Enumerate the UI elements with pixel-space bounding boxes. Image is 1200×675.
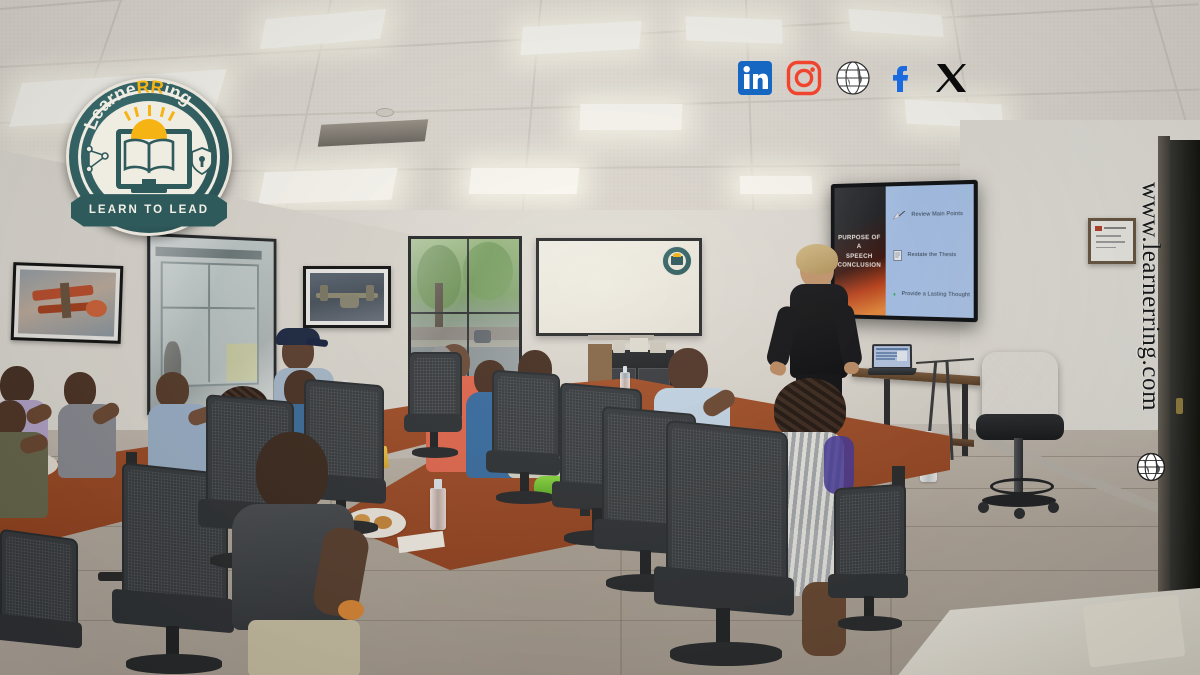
osprey-photo <box>303 266 391 328</box>
tablecloth-fold <box>1083 594 1186 667</box>
website-watermark: www.learnerring.com <box>1136 182 1164 411</box>
task-chair[interactable] <box>0 534 90 664</box>
student-head <box>256 432 328 512</box>
brand-part-2: RR <box>136 76 165 97</box>
task-chair[interactable] <box>828 486 914 636</box>
logo-tagline-ribbon: LEARN TO LEAD <box>71 192 227 228</box>
framed-certificate <box>1088 218 1136 264</box>
instagram-icon[interactable] <box>784 58 824 98</box>
laptop[interactable] <box>868 344 914 376</box>
whiteboard <box>536 238 702 336</box>
social-icon-row <box>735 58 971 98</box>
globe-icon <box>1136 452 1166 482</box>
task-chair[interactable] <box>404 352 466 462</box>
globe-icon[interactable] <box>833 58 873 98</box>
node-network-icon <box>85 145 109 175</box>
whiteboard-logo-icon <box>662 246 692 276</box>
water-bottle <box>430 488 446 530</box>
event-photo: PURPOSE OF A SPEECH CONCLUSION Review Ma… <box>0 0 1200 675</box>
open-book-icon <box>122 137 176 175</box>
ceiling-light-panel <box>580 104 683 130</box>
facebook-icon[interactable] <box>882 58 922 98</box>
snack <box>338 600 364 620</box>
student <box>0 400 64 520</box>
student <box>58 372 124 478</box>
task-chair[interactable] <box>652 426 800 674</box>
smoke-detector-icon <box>376 108 394 117</box>
learnerring-logo: LearneRRing <box>66 78 232 236</box>
ceiling-light-panel <box>740 176 813 194</box>
shield-icon <box>191 147 213 175</box>
ceiling-light-panel <box>469 168 580 194</box>
biplane-photo <box>11 262 124 344</box>
tissue-box <box>630 338 648 352</box>
ceiling-light-panel <box>685 16 782 43</box>
student-shorts <box>248 620 360 675</box>
presenter-hair <box>796 244 838 274</box>
monitor-base-icon <box>131 187 167 193</box>
student <box>226 432 376 675</box>
logo-tagline: LEARN TO LEAD <box>89 204 209 216</box>
doorway[interactable] <box>1168 140 1200 660</box>
drafting-chair[interactable] <box>976 352 1066 522</box>
linkedin-icon[interactable] <box>735 58 775 98</box>
sun-ray <box>148 105 151 116</box>
presenter-hand-right <box>844 362 859 374</box>
x-twitter-icon[interactable] <box>931 58 971 98</box>
door-handle-icon <box>1176 398 1183 414</box>
pencil-cup <box>613 340 625 353</box>
ceiling-light-panel <box>258 168 397 205</box>
